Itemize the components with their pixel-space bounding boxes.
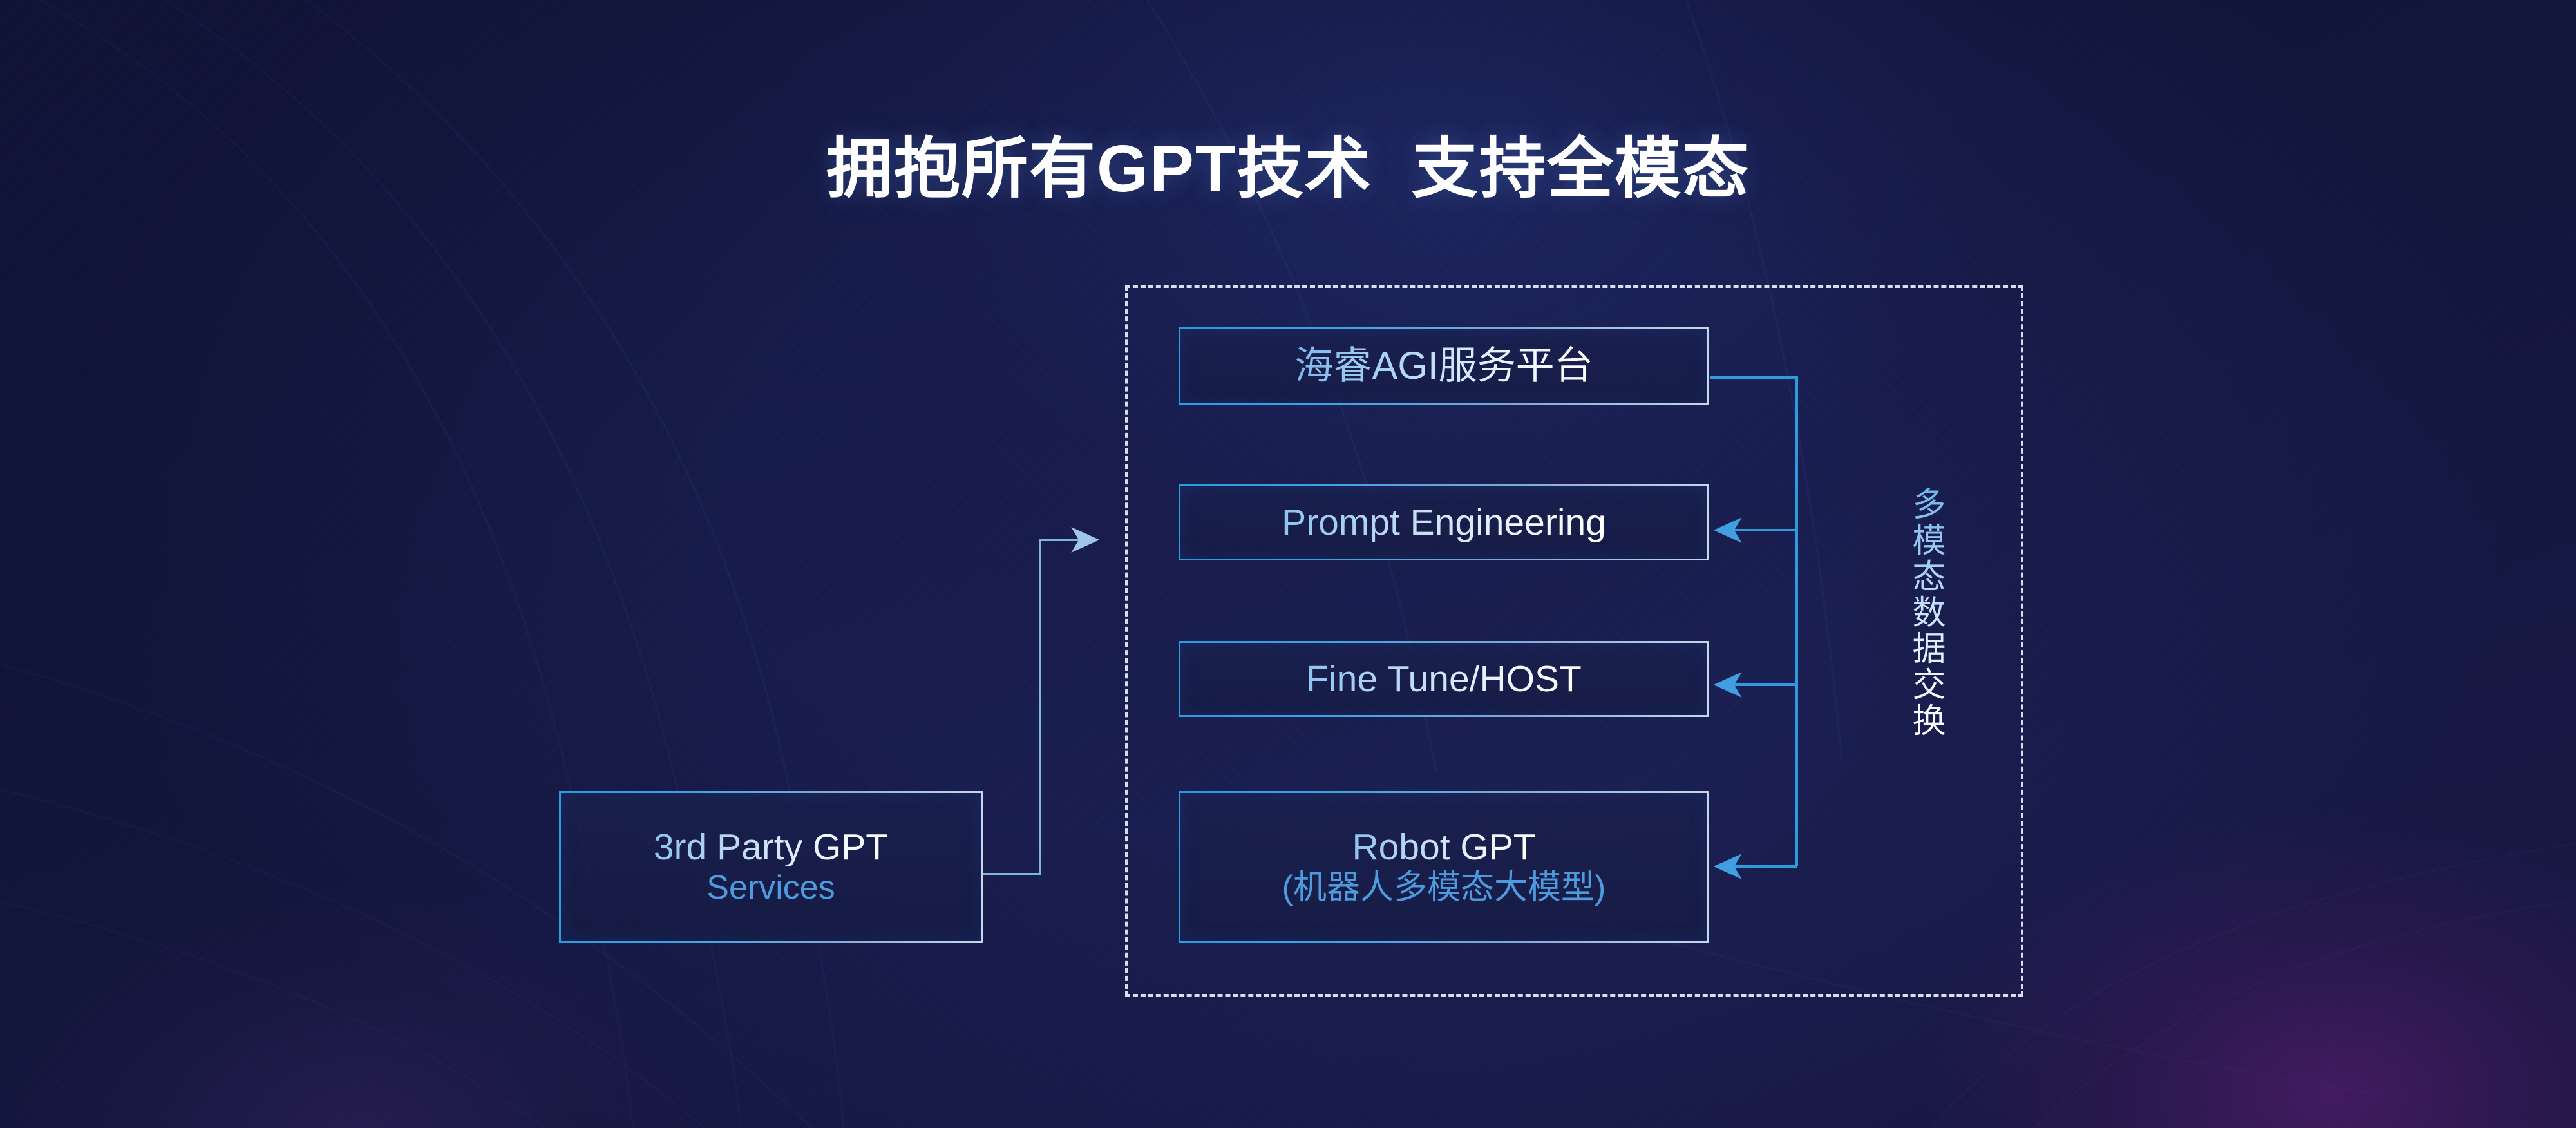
page-title: 拥抱所有GPT技术 支持全模态 — [0, 115, 2576, 211]
card-prompt-engineering[interactable]: Prompt Engineering — [1179, 484, 1709, 560]
card-robot-gpt-sublabel: (机器人多模态大模型) — [1282, 869, 1606, 906]
card-third-party-gpt[interactable]: 3rd Party GPT Services — [559, 791, 983, 943]
card-fine-tune-host-label: Fine Tune/HOST — [1306, 660, 1582, 698]
slide-canvas: 拥抱所有GPT技术 支持全模态 海睿AGI服务平台 Prompt Engi — [0, 0, 2576, 1128]
card-prompt-engineering-label: Prompt Engineering — [1282, 503, 1606, 542]
card-third-party-gpt-sublabel: Services — [706, 869, 835, 906]
card-agi-platform-label: 海睿AGI服务平台 — [1294, 345, 1593, 387]
card-robot-gpt[interactable]: Robot GPT (机器人多模态大模型) — [1179, 791, 1709, 943]
card-fine-tune-host[interactable]: Fine Tune/HOST — [1179, 641, 1709, 717]
card-robot-gpt-label: Robot GPT — [1352, 828, 1535, 866]
vertical-label-multimodal-data-exchange: 多模态数据交换 — [1905, 486, 1945, 739]
card-agi-platform[interactable]: 海睿AGI服务平台 — [1179, 327, 1709, 405]
card-third-party-gpt-label: 3rd Party GPT — [654, 828, 888, 866]
